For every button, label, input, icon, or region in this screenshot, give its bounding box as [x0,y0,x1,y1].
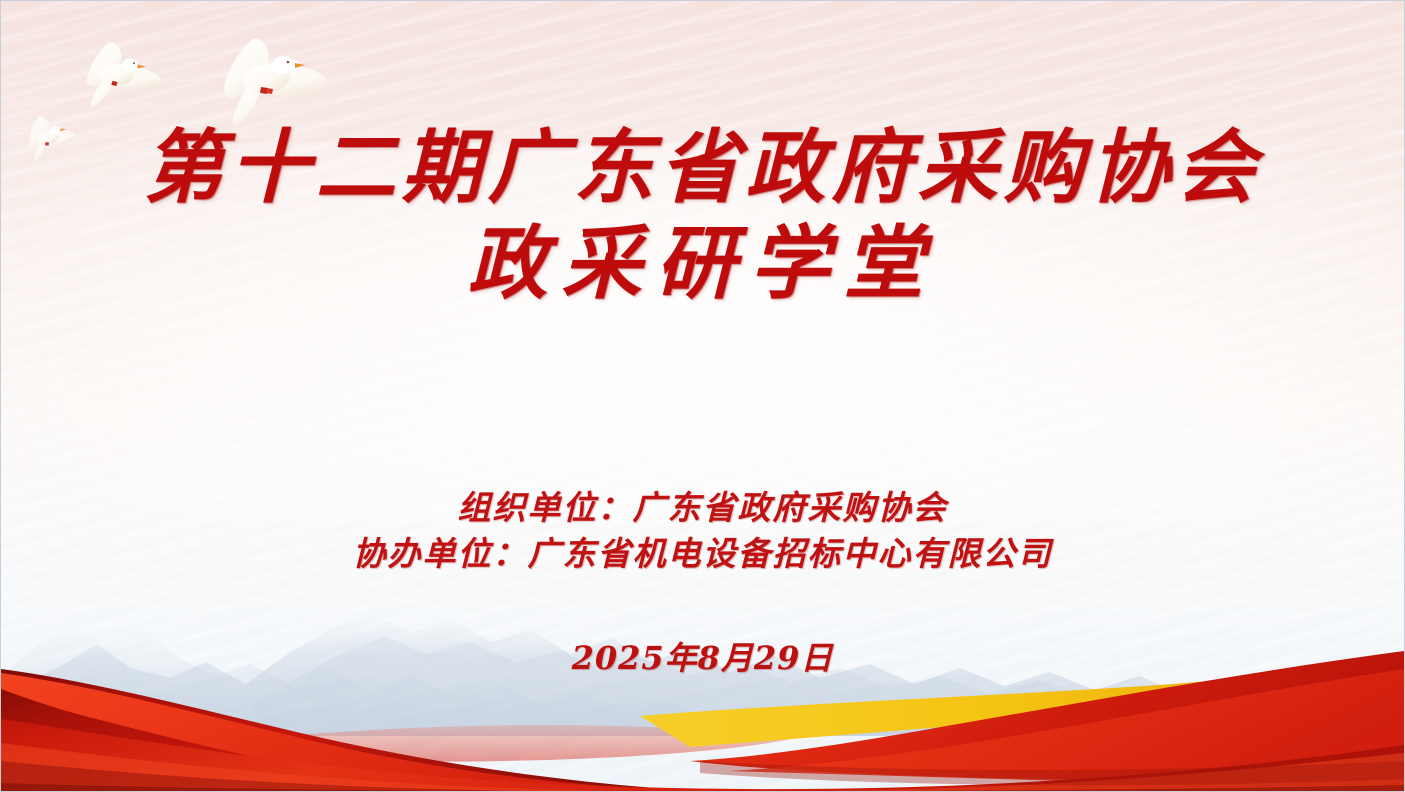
date-block: 2025年8月29日 [1,633,1404,679]
slide-title: 第十二期广东省政府采购协会 政采研学堂 [1,119,1404,311]
credits-block: 组织单位：广东省政府采购协会 协办单位：广东省机电设备招标中心有限公司 [1,485,1404,577]
event-date: 2025年8月29日 [1,633,1404,679]
title-slide: 第十二期广东省政府采购协会 政采研学堂 组织单位：广东省政府采购协会 协办单位：… [0,0,1405,792]
coorganizer-line: 协办单位：广东省机电设备招标中心有限公司 [1,531,1404,577]
organizer-line: 组织单位：广东省政府采购协会 [1,485,1404,531]
title-line-1: 第十二期广东省政府采购协会 [1,119,1404,215]
title-line-2: 政采研学堂 [1,215,1404,311]
